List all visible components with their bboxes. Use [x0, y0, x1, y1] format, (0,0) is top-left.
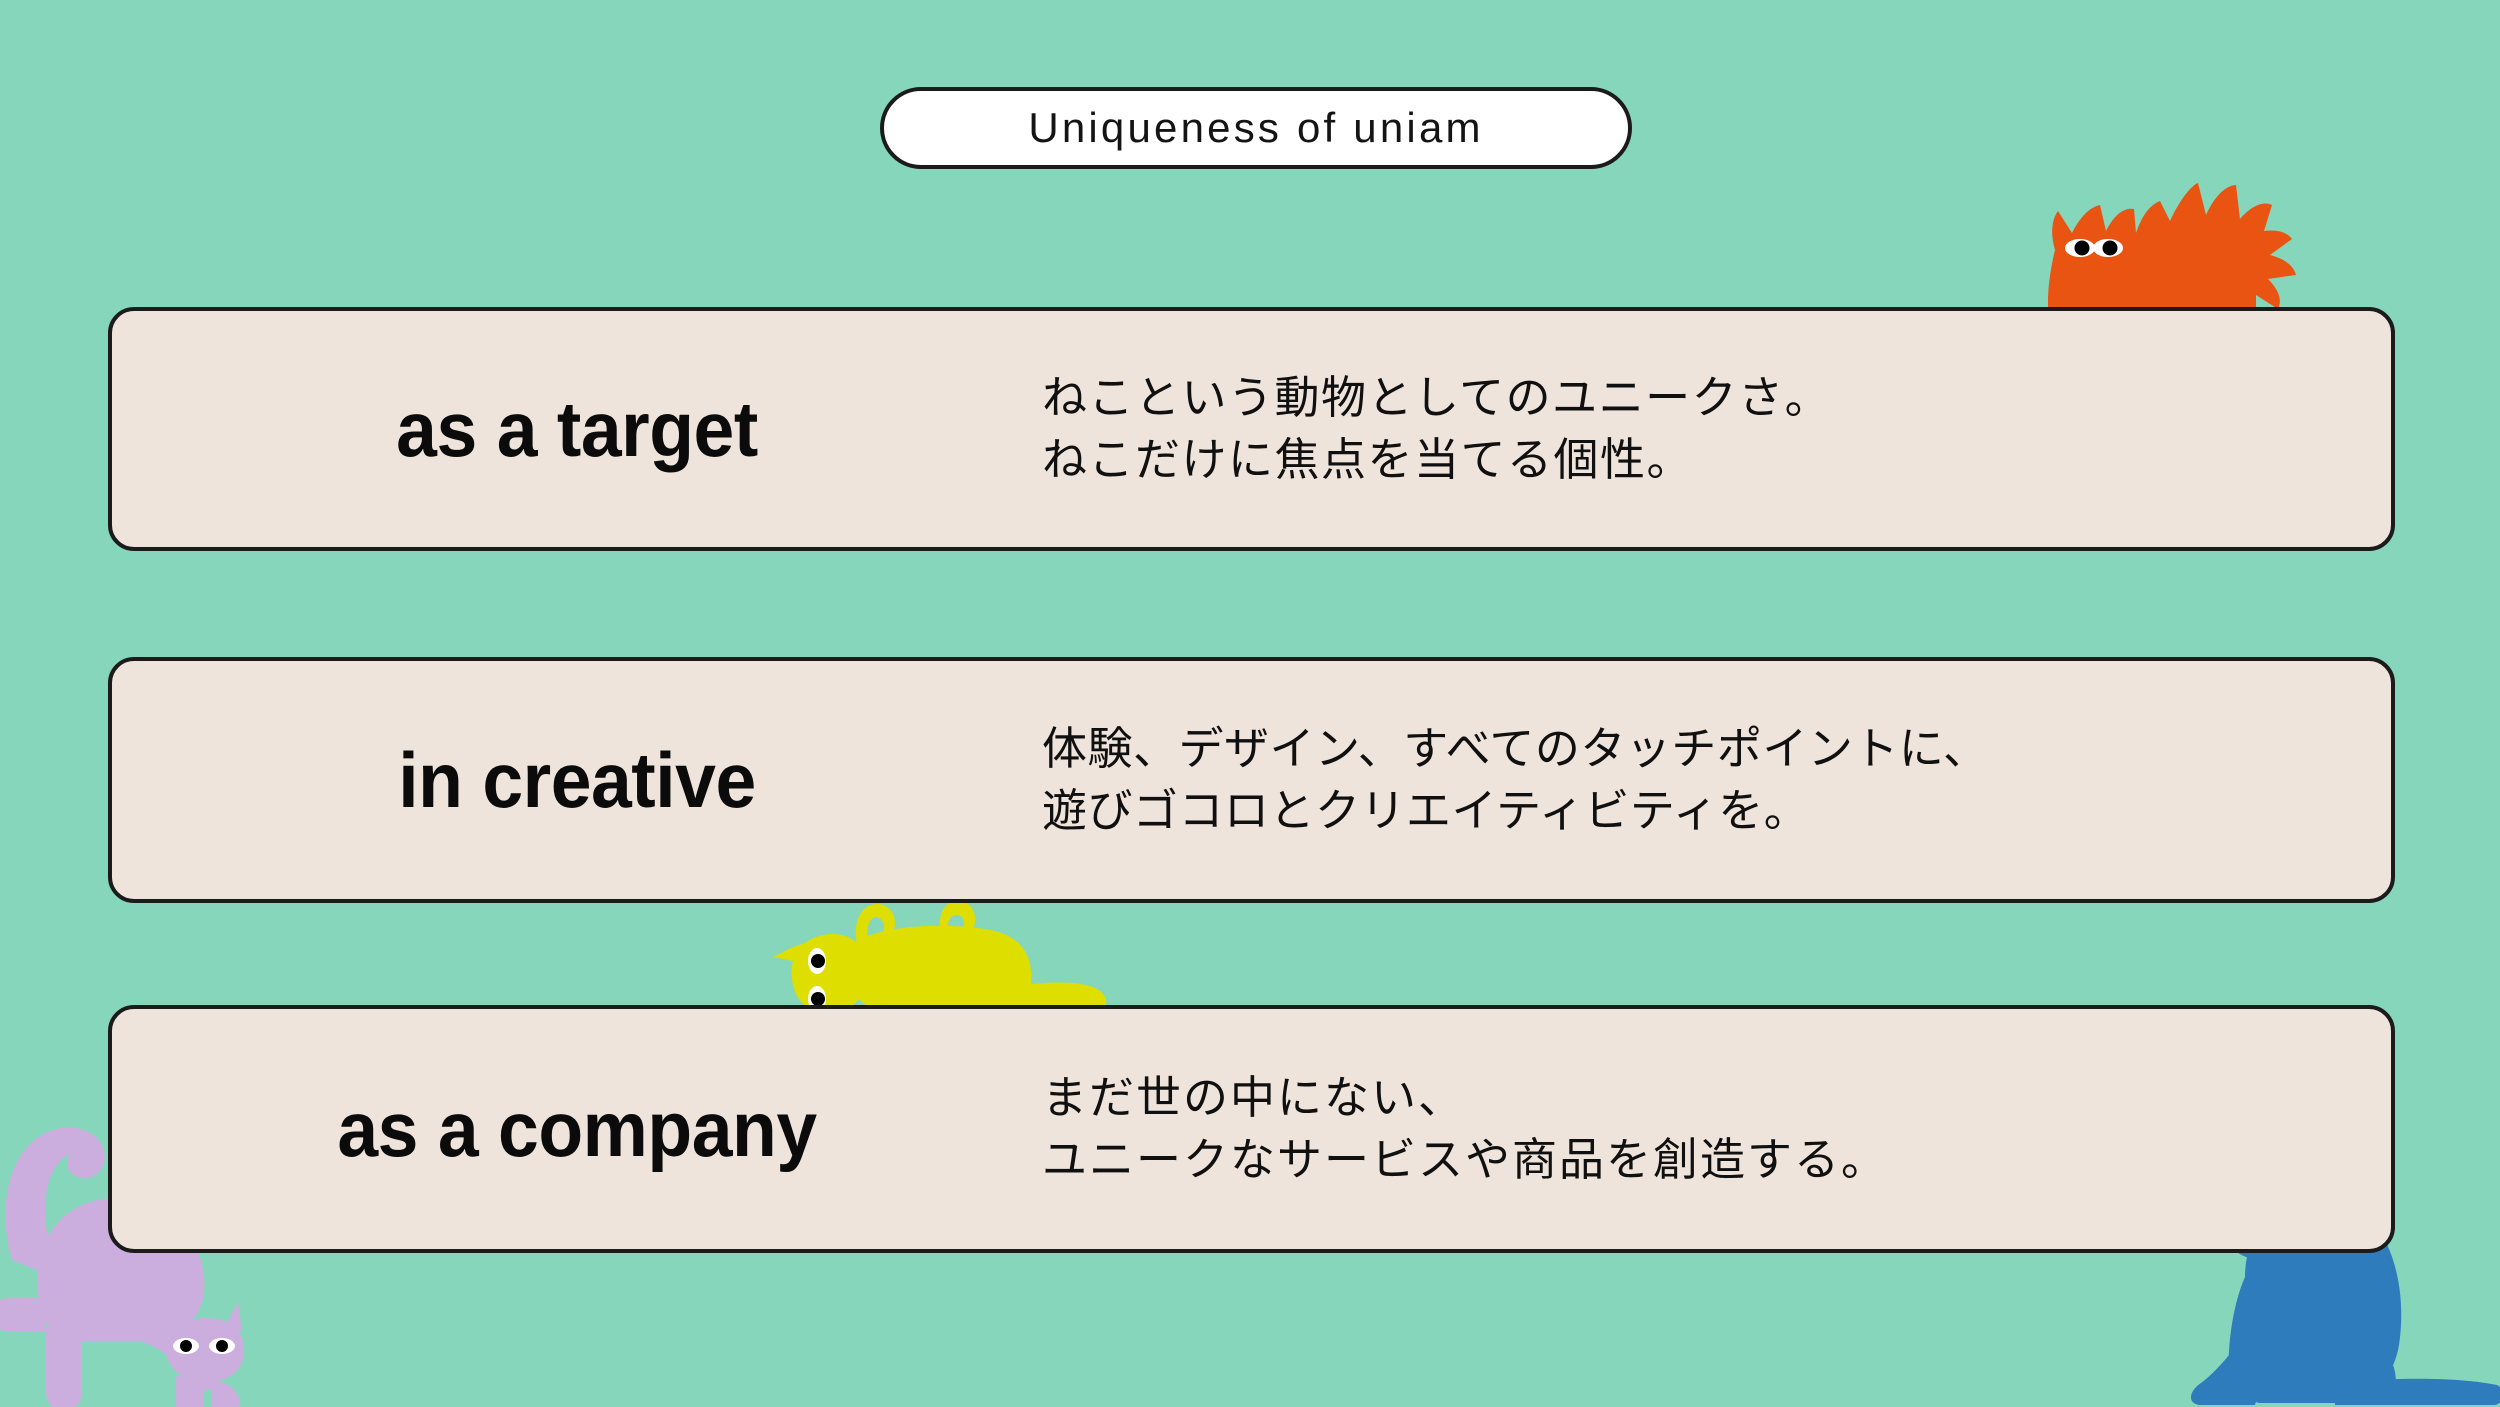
slide-title-text: Uniqueness of uniam — [1028, 104, 1483, 152]
slide-canvas: Uniqueness of uniam as a target ねこという動物と… — [0, 0, 2500, 1407]
info-card-as-a-company: as a company まだ世の中にない、 ユニークなサービスや商品を創造する… — [108, 1005, 2395, 1253]
card-body-as-a-company: まだ世の中にない、 ユニークなサービスや商品を創造する。 — [1042, 1067, 2391, 1191]
card-body-line: ユニークなサービスや商品を創造する。 — [1042, 1129, 2391, 1191]
card-body-line: 体験、デザイン、すべてのタッチポイントに、 — [1042, 718, 2391, 780]
card-body-line: ねこだけに焦点を当てる個性。 — [1042, 429, 2391, 491]
card-body-line: まだ世の中にない、 — [1042, 1067, 2391, 1129]
card-body-in-creative: 体験、デザイン、すべてのタッチポイントに、 遊びゴコロとクリエイティビティを。 — [1042, 718, 2391, 842]
slide-title-pill: Uniqueness of uniam — [880, 87, 1632, 169]
card-body-line: 遊びゴコロとクリエイティビティを。 — [1042, 780, 2391, 842]
card-body-line: ねこという動物としてのユニークさ。 — [1042, 367, 2391, 429]
orange-spiky-cat-icon — [2020, 175, 2320, 325]
card-heading-as-a-company: as a company — [140, 1084, 1014, 1175]
yellow-lying-cat-icon — [745, 885, 1125, 1020]
card-heading-as-a-target: as a target — [140, 384, 1014, 475]
card-body-as-a-target: ねこという動物としてのユニークさ。 ねこだけに焦点を当てる個性。 — [1042, 367, 2391, 491]
info-card-in-creative: in creative 体験、デザイン、すべてのタッチポイントに、 遊びゴコロと… — [108, 657, 2395, 903]
info-card-as-a-target: as a target ねこという動物としてのユニークさ。 ねこだけに焦点を当て… — [108, 307, 2395, 551]
card-heading-in-creative: in creative — [140, 735, 1014, 826]
